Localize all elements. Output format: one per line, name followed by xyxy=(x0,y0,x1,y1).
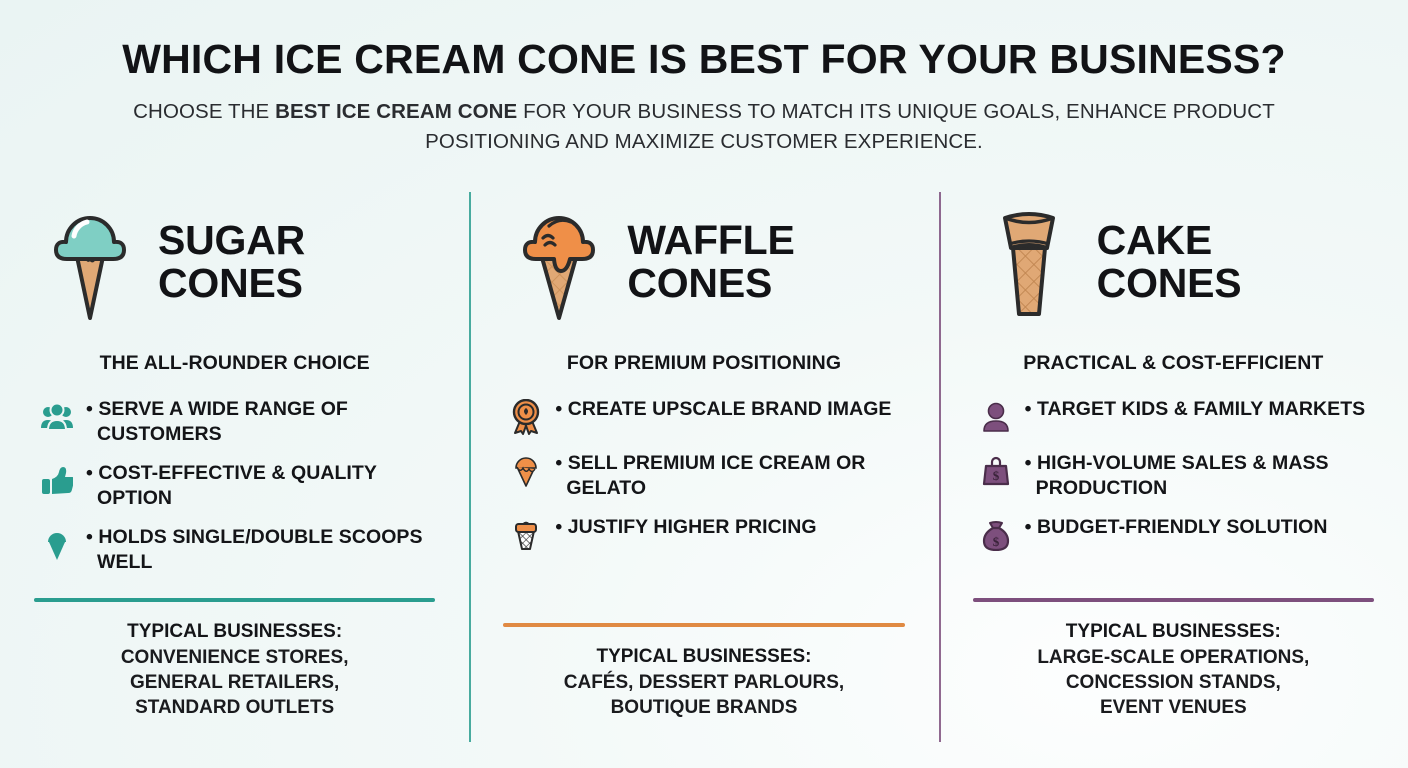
sugar-cones-footer: TYPICAL BUSINESSES: CONVENIENCE STORES, … xyxy=(26,598,443,746)
column-sugar-cones: SUGAR CONES THE ALL-ROUNDER CHOICE xyxy=(0,186,469,746)
sugar-cone-header: SUGAR CONES xyxy=(26,192,443,332)
cake-cone-header: CAKE CONES xyxy=(965,192,1382,332)
waffle-divider xyxy=(503,623,904,627)
list-item-label: CREATE UPSCALE BRAND IMAGE xyxy=(555,397,891,422)
cake-cones-bullets: TARGET KIDS & FAMILY MARKETS $ HIGH-VOLU… xyxy=(965,397,1382,554)
money-bag-icon: $ xyxy=(977,516,1015,554)
comparison-columns: SUGAR CONES THE ALL-ROUNDER CHOICE xyxy=(0,186,1408,746)
waffle-cones-heading: WAFFLE CONES xyxy=(627,219,794,304)
list-item-label: TARGET KIDS & FAMILY MARKETS xyxy=(1025,397,1366,422)
waffle-cone-header: WAFFLE CONES xyxy=(495,192,912,332)
person-icon xyxy=(977,398,1015,436)
cake-businesses-list: LARGE-SCALE OPERATIONS, CONCESSION STAND… xyxy=(965,645,1382,720)
list-item: HOLDS SINGLE/DOUBLE SCOOPS WELL xyxy=(38,525,443,574)
list-item: $ BUDGET-FRIENDLY SOLUTION xyxy=(977,515,1382,554)
sugar-businesses-list: CONVENIENCE STORES, GENERAL RETAILERS, S… xyxy=(26,645,443,720)
waffle-cone-icon xyxy=(513,196,605,329)
list-item-label: COST-EFFECTIVE & QUALITY OPTION xyxy=(86,461,443,510)
svg-text:$: $ xyxy=(992,534,999,549)
subtitle-part-2: FOR YOUR BUSINESS TO MATCH ITS UNIQUE GO… xyxy=(425,100,1275,152)
list-item-label: JUSTIFY HIGHER PRICING xyxy=(555,515,816,540)
list-item-label: HOLDS SINGLE/DOUBLE SCOOPS WELL xyxy=(86,525,443,574)
header: WHICH ICE CREAM CONE IS BEST FOR YOUR BU… xyxy=(0,0,1408,156)
cake-businesses-label: TYPICAL BUSINESSES: xyxy=(965,620,1382,645)
subtitle-emphasis: BEST ICE CREAM CONE xyxy=(275,100,517,123)
ice-cream-cone-icon xyxy=(38,526,76,564)
thumbs-up-icon xyxy=(38,462,76,500)
list-item-label: BUDGET-FRIENDLY SOLUTION xyxy=(1025,515,1328,540)
cake-cones-tagline: PRACTICAL & COST-EFFICIENT xyxy=(965,352,1382,375)
sugar-cones-heading: SUGAR CONES xyxy=(158,219,305,304)
list-item: CREATE UPSCALE BRAND IMAGE xyxy=(507,397,912,436)
sugar-divider xyxy=(34,598,435,602)
sugar-cone-icon xyxy=(44,196,136,329)
waffle-cones-tagline: FOR PREMIUM POSITIONING xyxy=(495,352,912,375)
award-ribbon-icon xyxy=(507,398,545,436)
waffle-cones-bullets: CREATE UPSCALE BRAND IMAGE SELL PREMIUM … xyxy=(495,397,912,554)
list-item: COST-EFFECTIVE & QUALITY OPTION xyxy=(38,461,443,510)
svg-text:$: $ xyxy=(992,468,999,483)
column-cake-cones: CAKE CONES PRACTICAL & COST-EFFICIENT TA… xyxy=(939,186,1408,746)
list-item: SELL PREMIUM ICE CREAM OR GELATO xyxy=(507,451,912,500)
list-item-label: HIGH-VOLUME SALES & MASS PRODUCTION xyxy=(1025,451,1382,500)
column-waffle-cones: WAFFLE CONES FOR PREMIUM POSITIONING xyxy=(469,186,938,746)
page-subtitle: CHOOSE THE BEST ICE CREAM CONE FOR YOUR … xyxy=(0,97,1408,155)
sugar-cones-tagline: THE ALL-ROUNDER CHOICE xyxy=(26,352,443,375)
cake-cones-footer: TYPICAL BUSINESSES: LARGE-SCALE OPERATIO… xyxy=(965,598,1382,746)
list-item: SERVE A WIDE RANGE OF CUSTOMERS xyxy=(38,397,443,446)
list-item: TARGET KIDS & FAMILY MARKETS xyxy=(977,397,1382,436)
list-item-label: SERVE A WIDE RANGE OF CUSTOMERS xyxy=(86,397,443,446)
sugar-cones-bullets: SERVE A WIDE RANGE OF CUSTOMERS COST-EFF… xyxy=(26,397,443,574)
waffle-businesses-list: CAFÉS, DESSERT PARLOURS, BOUTIQUE BRANDS xyxy=(495,670,912,720)
money-handbag-icon: $ xyxy=(977,452,1015,490)
waffle-businesses-label: TYPICAL BUSINESSES: xyxy=(495,645,912,670)
ice-cream-cone-icon xyxy=(507,452,545,490)
list-item: JUSTIFY HIGHER PRICING xyxy=(507,515,912,554)
sugar-businesses-label: TYPICAL BUSINESSES: xyxy=(26,620,443,645)
cake-divider xyxy=(973,598,1374,602)
cake-cone-icon xyxy=(983,196,1075,329)
page-title: WHICH ICE CREAM CONE IS BEST FOR YOUR BU… xyxy=(0,38,1408,81)
subtitle-part-1: CHOOSE THE xyxy=(133,100,275,123)
waffle-cup-icon xyxy=(507,516,545,554)
list-item: $ HIGH-VOLUME SALES & MASS PRODUCTION xyxy=(977,451,1382,500)
people-group-icon xyxy=(38,398,76,436)
list-item-label: SELL PREMIUM ICE CREAM OR GELATO xyxy=(555,451,912,500)
cake-cones-heading: CAKE CONES xyxy=(1097,219,1242,304)
waffle-cones-footer: TYPICAL BUSINESSES: CAFÉS, DESSERT PARLO… xyxy=(495,623,912,746)
infographic-page: WHICH ICE CREAM CONE IS BEST FOR YOUR BU… xyxy=(0,0,1408,768)
